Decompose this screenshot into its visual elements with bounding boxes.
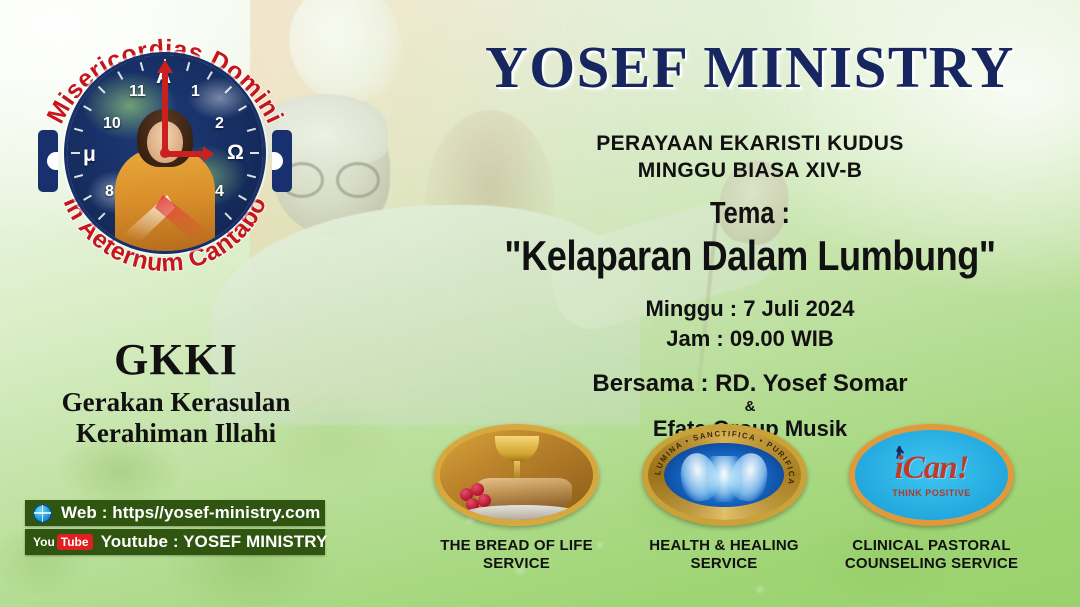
organization-block: GKKI Gerakan Kerasulan Kerahiman Illahi [0, 338, 352, 450]
service-label-bread: THE BREAD OF LIFE SERVICE [424, 537, 609, 574]
ican-wordmark: iCan! [855, 450, 1008, 487]
website-label: Web : https//yosef-ministry.com [61, 503, 320, 523]
emblem-blue-field [664, 443, 783, 508]
globe-icon [33, 504, 52, 523]
chalice-bread-grapes-emblem [434, 424, 599, 526]
service-bread-of-life[interactable]: THE BREAD OF LIFE SERVICE [424, 424, 609, 574]
dove-icon [277, 0, 413, 116]
services-row: THE BREAD OF LIFE SERVICE ILLUMINA • SAN… [424, 424, 1024, 574]
ican-logo-emblem: iCan! THINK POSITIVE [849, 424, 1014, 526]
service-label-clinical: CLINICAL PASTORAL COUNSELING SERVICE [839, 537, 1024, 574]
event-time: Jam : 09.00 WIB [420, 324, 1080, 354]
logo-symbol-omega: Ω [227, 141, 244, 165]
theme-label: Tema : [479, 195, 1020, 231]
organization-name-line-2: Kerahiman Illahi [0, 418, 352, 449]
healing-light-glow [708, 456, 740, 503]
youtube-label: Youtube : YOSEF MINISTRY [101, 532, 328, 552]
service-health-healing[interactable]: ILLUMINA • SANCTIFICA • PURIFICA HEALTH … [632, 424, 817, 574]
organization-name-line-1: Gerakan Kerasulan [0, 387, 352, 418]
healing-hands-emblem: ILLUMINA • SANCTIFICA • PURIFICA [642, 424, 807, 526]
event-celebrant: Bersama : RD. Yosef Somar [420, 370, 1080, 398]
youtube-icon-you: You [33, 535, 55, 549]
service-clinical-pastoral[interactable]: iCan! THINK POSITIVE CLINICAL PASTORAL C… [839, 424, 1024, 574]
service-label-bread-line-2: SERVICE [424, 555, 609, 573]
clock-center-dot [160, 148, 170, 158]
service-label-bread-line-1: THE BREAD OF LIFE [424, 537, 609, 555]
page-title: YOSEF MINISTRY [420, 38, 1080, 97]
flyer-canvas: Misericordias Domini In Aeternum Cantabo [0, 0, 1080, 607]
logo-dial-number-11: 11 [129, 83, 146, 101]
plate-icon [462, 505, 582, 523]
event-ampersand: & [420, 398, 1080, 416]
event-subtitle-line-2: MINGGU BIASA XIV-B [420, 158, 1080, 185]
contact-bars: Web : https//yosef-ministry.com You Tube… [25, 500, 325, 558]
logo-clock-dial: 11 1 10 2 8 4 7 5 A μ Ω ψ [67, 55, 263, 251]
service-label-clinical-line-2: COUNSELING SERVICE [839, 555, 1024, 573]
service-label-clinical-line-1: CLINICAL PASTORAL [839, 537, 1024, 555]
website-bar[interactable]: Web : https//yosef-ministry.com [25, 500, 325, 526]
service-label-healing-line-2: SERVICE [632, 555, 817, 573]
event-subtitle-line-1: PERAYAAN EKARISTI KUDUS [420, 131, 1080, 158]
organization-acronym: GKKI [0, 338, 352, 383]
event-text-column: YOSEF MINISTRY PERAYAAN EKARISTI KUDUS M… [420, 0, 1080, 442]
logo-dial-number-1: 1 [191, 83, 200, 101]
clock-minute-hand [162, 71, 168, 155]
youtube-bar[interactable]: You Tube Youtube : YOSEF MINISTRY [25, 529, 325, 555]
logo-bracket-left [38, 130, 58, 192]
event-date: Minggu : 7 Juli 2024 [420, 294, 1080, 324]
ministry-logo: Misericordias Domini In Aeternum Cantabo [34, 22, 296, 284]
logo-symbol-mu: μ [83, 143, 96, 167]
service-label-healing: HEALTH & HEALING SERVICE [632, 537, 817, 574]
theme-value: "Kelaparan Dalam Lumbung" [466, 234, 1034, 278]
youtube-icon-tube: Tube [57, 534, 93, 550]
service-label-healing-line-1: HEALTH & HEALING [632, 537, 817, 555]
ican-tagline: THINK POSITIVE [855, 488, 1008, 498]
logo-bracket-right [272, 130, 292, 192]
youtube-icon: You Tube [33, 534, 93, 550]
